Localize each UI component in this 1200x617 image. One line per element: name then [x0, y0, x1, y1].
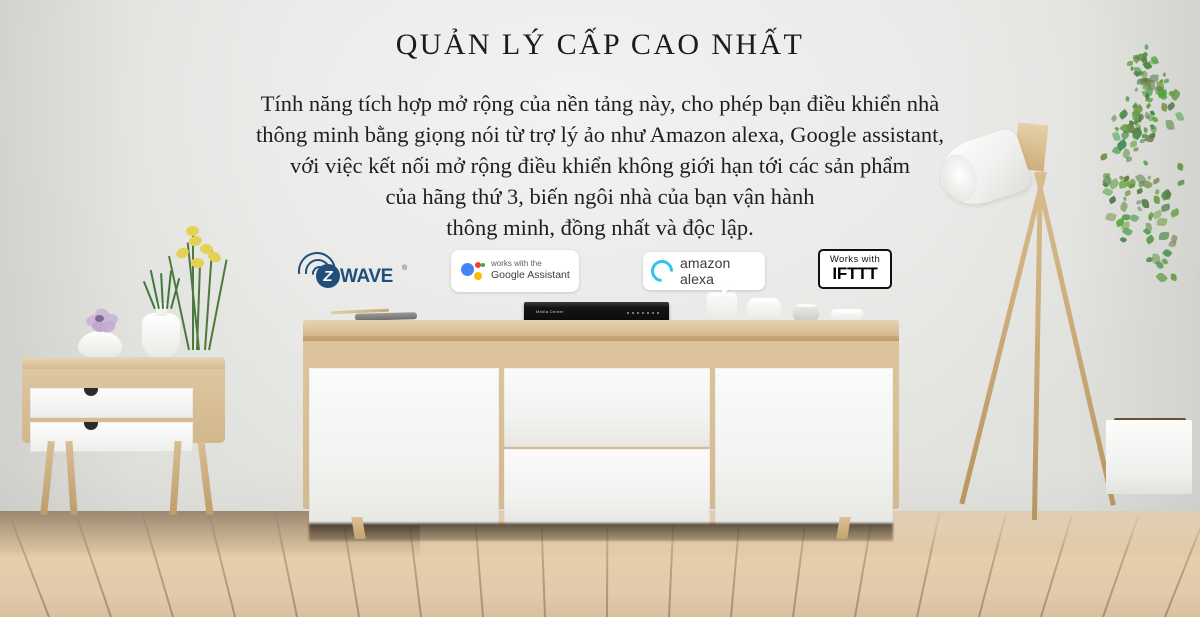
promo-banner: Media Center QUẢN LÝ [0, 0, 1200, 617]
page-title: QUẢN LÝ CẤP CAO NHẤT [0, 28, 1200, 62]
google-assistant-dots-icon [461, 260, 483, 282]
text-overlay: QUẢN LÝ CẤP CAO NHẤT Tính năng tích hợp … [0, 0, 1200, 617]
google-assistant-line2: Google Assistant [491, 269, 570, 282]
badge-zwave[interactable]: Z WAVE ® [296, 248, 416, 294]
description-line: của hãng thứ 3, biến ngôi nhà của bạn vậ… [0, 181, 1200, 212]
zwave-z-mark-icon: Z [316, 264, 340, 288]
badge-amazon-alexa[interactable]: amazon alexa [643, 252, 765, 290]
badge-ifttt[interactable]: Works with IFTTT [818, 249, 892, 289]
alexa-label: amazon alexa [680, 255, 765, 287]
description-line: với việc kết nối mở rộng điều khiển khôn… [0, 150, 1200, 181]
description-line: thông minh bằng giọng nói từ trợ lý ảo n… [0, 119, 1200, 150]
alexa-ring-icon [646, 255, 677, 286]
description-paragraph: Tính năng tích hợp mở rộng của nền tảng … [0, 88, 1200, 243]
zwave-mark-letter: Z [323, 269, 332, 284]
zwave-wordmark: WAVE [340, 266, 393, 288]
description-line: Tính năng tích hợp mở rộng của nền tảng … [0, 88, 1200, 119]
ifttt-line2: IFTTT [832, 265, 877, 283]
compatibility-badges: Z WAVE ® [0, 240, 1200, 302]
alexa-bubble-tail [722, 288, 729, 298]
zwave-trademark: ® [402, 265, 407, 272]
description-line: thông minh, đồng nhất và độc lập. [0, 212, 1200, 243]
badge-google-assistant[interactable]: works with the Google Assistant [451, 250, 579, 292]
google-assistant-line1: works with the [491, 259, 570, 269]
